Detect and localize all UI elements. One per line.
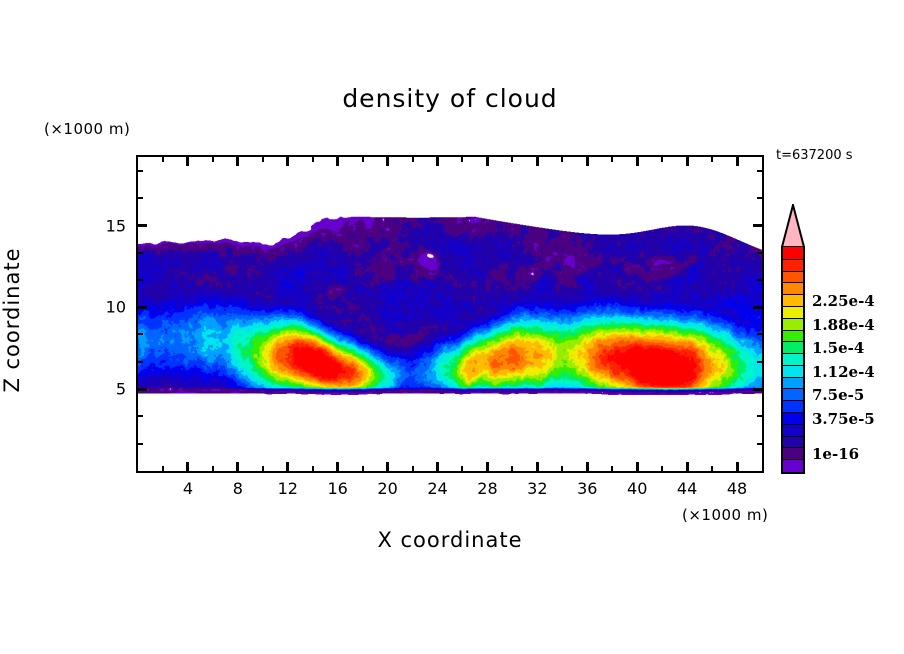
x-tick-label: 44 [677, 479, 697, 498]
plot-area [136, 155, 764, 473]
x-tick-label: 20 [377, 479, 397, 498]
colorbar-tick-label: 3.75e-5 [812, 410, 875, 428]
colorbar-band [783, 460, 803, 472]
time-annotation: t=637200 s [776, 148, 853, 163]
colorbar-tick-label: 7.5e-5 [812, 386, 864, 404]
colorbar-band-separator [783, 353, 803, 354]
x-tick-label: 8 [233, 479, 243, 498]
colorbar-tick-label: 2.25e-4 [812, 292, 875, 310]
x-tick-label: 28 [477, 479, 497, 498]
colorbar [781, 246, 805, 474]
density-field-heatmap [138, 157, 762, 471]
colorbar-tick-label: 1e-16 [812, 445, 859, 463]
colorbar-band-separator [783, 400, 803, 401]
colorbar-band-separator [783, 306, 803, 307]
y-axis-title: Z coordinate [0, 200, 24, 440]
colorbar-band-separator [783, 412, 803, 413]
colorbar-band-separator [783, 377, 803, 378]
x-tick-label: 4 [183, 479, 193, 498]
x-axis-title: X coordinate [136, 528, 764, 552]
colorbar-band-separator [783, 259, 803, 260]
colorbar-band-separator [783, 318, 803, 319]
contour-plot-figure: density of cloud (×1000 m) Z coordinate … [0, 0, 904, 654]
colorbar-band-separator [783, 436, 803, 437]
z-axis-unit-label: (×1000 m) [44, 120, 130, 138]
colorbar-band-separator [783, 424, 803, 425]
colorbar-band-separator [783, 365, 803, 366]
colorbar-band-separator [783, 459, 803, 460]
colorbar-tick-label: 1.88e-4 [812, 316, 875, 334]
colorbar-tick-label: 1.12e-4 [812, 363, 875, 381]
colorbar-band-separator [783, 447, 803, 448]
x-tick-label: 40 [627, 479, 647, 498]
page-title: density of cloud [136, 84, 764, 113]
colorbar-extend-arrow [781, 204, 805, 248]
colorbar-band-separator [783, 388, 803, 389]
colorbar-band-separator [783, 282, 803, 283]
x-tick-label: 12 [278, 479, 298, 498]
y-tick-label: 5 [96, 380, 126, 399]
colorbar-tick-label: 1.5e-4 [812, 339, 864, 357]
x-axis-unit-label: (×1000 m) [682, 506, 768, 524]
y-tick-label: 10 [96, 298, 126, 317]
colorbar-band-separator [783, 341, 803, 342]
y-tick-label: 15 [96, 216, 126, 235]
x-tick-label: 16 [327, 479, 347, 498]
colorbar-band-separator [783, 330, 803, 331]
x-tick-label: 36 [577, 479, 597, 498]
x-tick-label: 48 [727, 479, 747, 498]
x-tick-label: 24 [427, 479, 447, 498]
colorbar-band-separator [783, 271, 803, 272]
colorbar-band-separator [783, 294, 803, 295]
x-tick-label: 32 [527, 479, 547, 498]
